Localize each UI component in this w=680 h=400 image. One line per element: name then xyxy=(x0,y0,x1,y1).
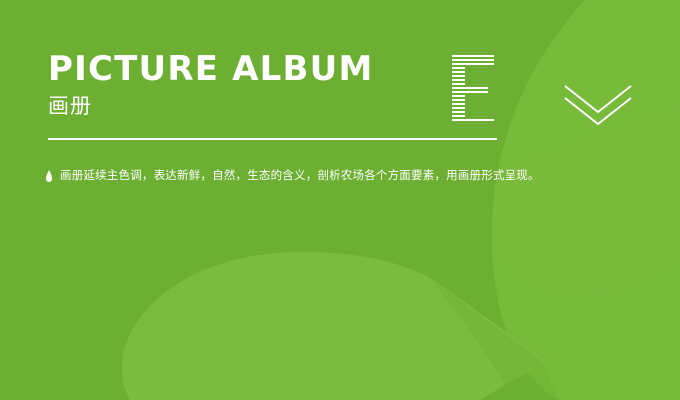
chevron-upper xyxy=(565,86,631,112)
leaf-drop-bullet-icon xyxy=(46,170,52,182)
description-row: 画册延续主色调，表达新鲜，自然，生态的含义，剖析农场各个方面要素，用画册形式呈现… xyxy=(46,170,540,182)
bottom-left-leaf-tip xyxy=(200,278,545,400)
picture-album-slide: PICTURE ALBUM 画册 画册延续主色调，表达新鲜，自然，生态的含义，剖… xyxy=(0,0,680,400)
double-chevron-down-icon[interactable] xyxy=(563,84,633,126)
monogram-letter-e-icon xyxy=(452,55,494,123)
slide-header: PICTURE ALBUM 画册 xyxy=(48,52,508,117)
page-title-chinese: 画册 xyxy=(48,96,508,117)
right-lower-leaf-shape xyxy=(497,110,680,292)
description-text: 画册延续主色调，表达新鲜，自然，生态的含义，剖析农场各个方面要素，用画册形式呈现… xyxy=(60,170,540,182)
right-leaf-shape xyxy=(492,0,680,400)
header-divider xyxy=(48,138,497,140)
page-title-english: PICTURE ALBUM xyxy=(48,52,508,86)
bottom-left-leaf-shape xyxy=(122,252,540,400)
bottom-centre-wedge xyxy=(432,280,560,400)
